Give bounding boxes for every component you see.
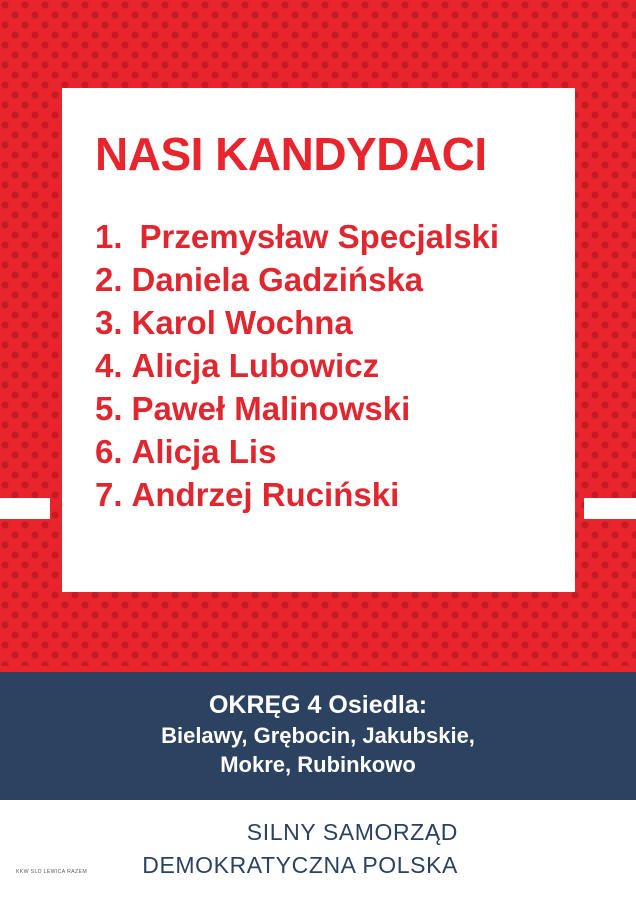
slogan-line-2: DEMOKRATYCZNA POLSKA <box>0 849 458 882</box>
page-title: NASI KANDYDACI <box>95 130 557 178</box>
list-item: 4. Alicja Lubowicz <box>95 345 557 388</box>
candidate-name: Daniela Gadzińska <box>132 259 424 302</box>
district-neighbourhoods-line-2: Mokre, Rubinkowo <box>0 750 636 779</box>
candidate-number: 1. <box>95 216 123 259</box>
left-edge-notch <box>0 498 50 519</box>
candidate-number: 4. <box>95 345 123 388</box>
list-item: 5. Paweł Malinowski <box>95 388 557 431</box>
poster-footer: SILNY SAMORZĄD DEMOKRATYCZNA POLSKA SLD … <box>0 800 636 900</box>
campaign-poster: NASI KANDYDACI 1. Przemysław Specjalski … <box>0 0 636 900</box>
candidates-card: NASI KANDYDACI 1. Przemysław Specjalski … <box>62 88 575 592</box>
candidate-number: 7. <box>95 474 123 517</box>
list-item: 2. Daniela Gadzińska <box>95 259 557 302</box>
list-item: 3. Karol Wochna <box>95 302 557 345</box>
right-edge-notch <box>584 498 636 519</box>
list-item: 6. Alicja Lis <box>95 431 557 474</box>
candidate-name: Przemysław Specjalski <box>140 216 500 259</box>
candidate-number: 5. <box>95 388 123 431</box>
slogan-line-1: SILNY SAMORZĄD <box>0 816 458 849</box>
district-heading: OKRĘG 4 Osiedla: <box>0 689 636 721</box>
list-item: 7. Andrzej Ruciński <box>95 474 557 517</box>
candidates-card-content: NASI KANDYDACI 1. Przemysław Specjalski … <box>95 130 557 517</box>
candidate-list: 1. Przemysław Specjalski 2. Daniela Gadz… <box>95 216 557 516</box>
district-neighbourhoods-line-1: Bielawy, Grębocin, Jakubskie, <box>0 721 636 750</box>
list-item: 1. Przemysław Specjalski <box>95 216 557 259</box>
district-band: OKRĘG 4 Osiedla: Bielawy, Grębocin, Jaku… <box>0 672 636 800</box>
candidate-name: Karol Wochna <box>132 302 353 345</box>
candidate-number: 6. <box>95 431 123 474</box>
election-committee-note: KKW SLD LEWICA RAZEM <box>16 869 87 875</box>
candidate-name: Alicja Lubowicz <box>132 345 380 388</box>
candidate-name: Andrzej Ruciński <box>132 474 400 517</box>
candidate-name: Alicja Lis <box>132 431 277 474</box>
candidate-number: 3. <box>95 302 123 345</box>
candidate-name: Paweł Malinowski <box>132 388 411 431</box>
candidate-number: 2. <box>95 259 123 302</box>
